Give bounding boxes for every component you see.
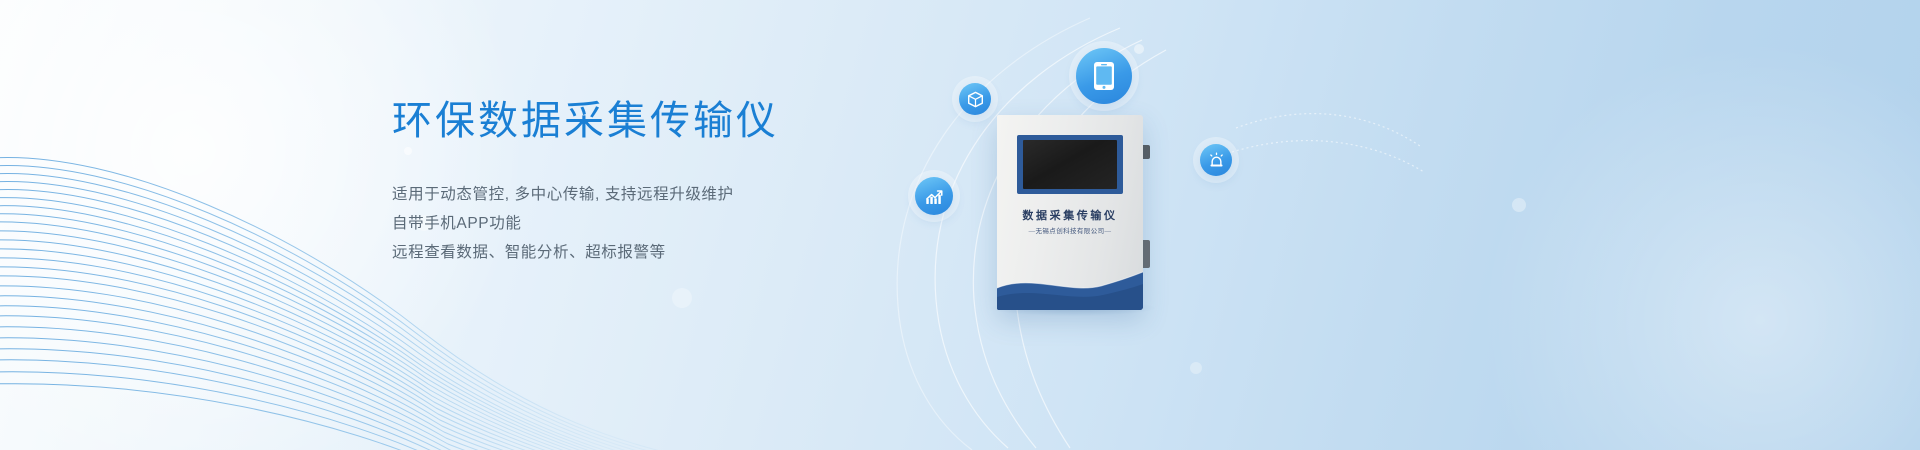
page-title: 环保数据采集传输仪 (392, 96, 952, 146)
device-screen (1023, 140, 1117, 189)
decorative-orbit-arcs (880, 0, 1580, 450)
device-side-port-bottom (1143, 240, 1150, 268)
product-scene: 数据采集传输仪 —无锡点创科技有限公司— (880, 0, 1580, 450)
device-footer-graphic (997, 264, 1143, 310)
data-acquisition-device: 数据采集传输仪 —无锡点创科技有限公司— (997, 115, 1143, 310)
device-title-label: 数据采集传输仪 (997, 207, 1143, 223)
feature-list: 适用于动态管控, 多中心传输, 支持远程升级维护 自带手机APP功能 远程查看数… (392, 180, 952, 267)
product-hero-banner: 环保数据采集传输仪 适用于动态管控, 多中心传输, 支持远程升级维护 自带手机A… (0, 0, 1920, 450)
package-box-icon[interactable] (959, 83, 991, 115)
feature-item: 远程查看数据、智能分析、超标报警等 (392, 238, 952, 267)
device-screen-bezel (1017, 135, 1123, 194)
feature-item: 自带手机APP功能 (392, 209, 952, 238)
feature-item: 适用于动态管控, 多中心传输, 支持远程升级维护 (392, 180, 952, 209)
alarm-siren-icon[interactable] (1200, 144, 1232, 176)
device-body: 数据采集传输仪 —无锡点创科技有限公司— (997, 115, 1143, 310)
device-company-label: —无锡点创科技有限公司— (997, 225, 1143, 235)
banner-copy: 环保数据采集传输仪 适用于动态管控, 多中心传输, 支持远程升级维护 自带手机A… (392, 96, 952, 267)
device-side-port-top (1143, 145, 1150, 159)
bar-chart-growth-icon[interactable] (915, 177, 953, 215)
decorative-bubble (672, 288, 692, 308)
mobile-phone-icon[interactable] (1076, 48, 1132, 104)
